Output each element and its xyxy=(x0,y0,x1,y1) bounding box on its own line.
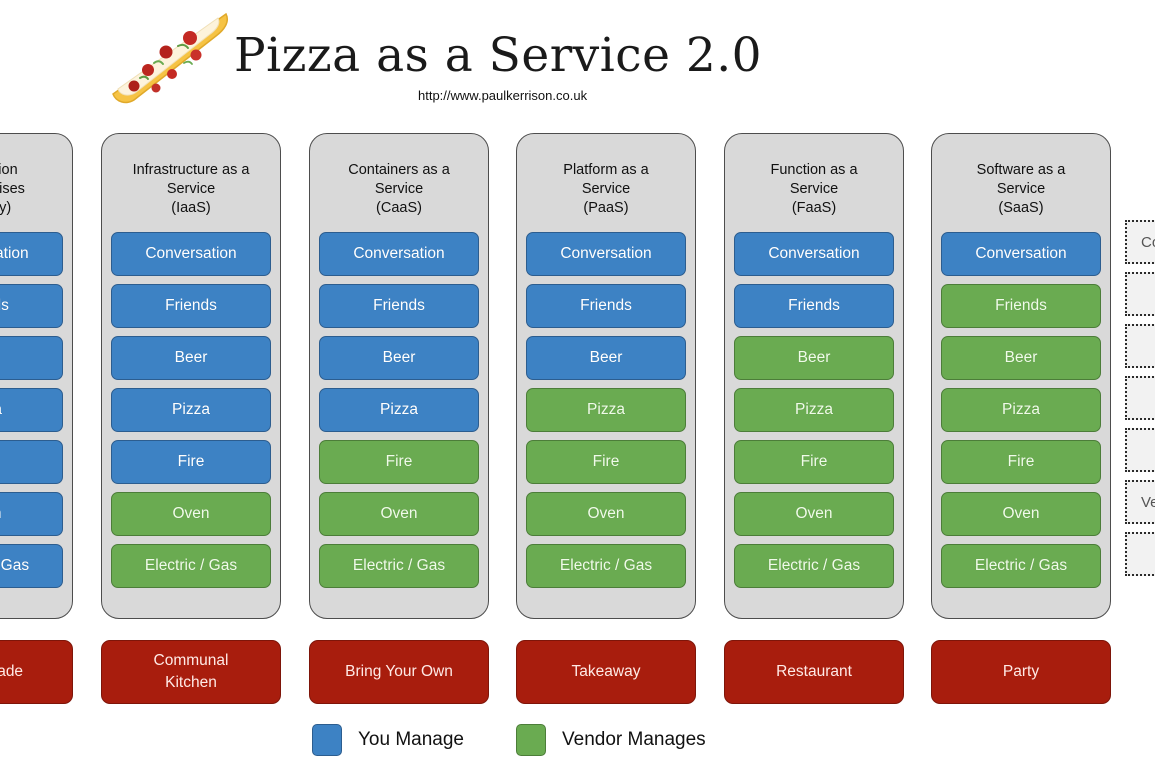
column-bottom-label[interactable]: Takeaway xyxy=(516,640,696,704)
legend-swatch-blue-icon xyxy=(312,724,342,756)
cell-oven[interactable]: Oven xyxy=(734,492,894,536)
cell-beer[interactable]: Beer xyxy=(0,336,63,380)
cell-oven[interactable]: Oven xyxy=(111,492,271,536)
column-card: Infrastructure as a Service (IaaS) Conve… xyxy=(101,133,281,619)
column-bottom-label[interactable]: Homemade xyxy=(0,640,73,704)
column-bottom-label[interactable]: Party xyxy=(931,640,1111,704)
column-faas: Function as a Service (FaaS) Conversatio… xyxy=(724,133,904,619)
column-iaas: Infrastructure as a Service (IaaS) Conve… xyxy=(101,133,281,619)
cell-pizza[interactable]: Pizza xyxy=(0,388,63,432)
column-title: Installation On Premises (Legacy) xyxy=(0,142,63,232)
cell-beer[interactable]: Beer xyxy=(111,336,271,380)
cell-friends[interactable]: Friends xyxy=(111,284,271,328)
template-row[interactable] xyxy=(1125,272,1155,316)
page-title: Pizza as a Service 2.0 xyxy=(234,32,762,79)
column-on-premises: Installation On Premises (Legacy) Conver… xyxy=(0,133,73,619)
cell-electric-gas[interactable]: Electric / Gas xyxy=(0,544,63,588)
cell-beer[interactable]: Beer xyxy=(734,336,894,380)
template-row[interactable]: Conversation xyxy=(1125,220,1155,264)
cell-friends[interactable]: Friends xyxy=(526,284,686,328)
column-paas: Platform as a Service (PaaS) Conversatio… xyxy=(516,133,696,619)
column-saas: Software as a Service (SaaS) Conversatio… xyxy=(931,133,1111,619)
cell-conversation[interactable]: Conversation xyxy=(0,232,63,276)
cell-pizza[interactable]: Pizza xyxy=(734,388,894,432)
column-caas: Containers as a Service (CaaS) Conversat… xyxy=(309,133,489,619)
cell-oven[interactable]: Oven xyxy=(0,492,63,536)
cell-fire[interactable]: Fire xyxy=(734,440,894,484)
column-bottom-label[interactable]: Communal Kitchen xyxy=(101,640,281,704)
cell-friends[interactable]: Friends xyxy=(0,284,63,328)
column-card: Installation On Premises (Legacy) Conver… xyxy=(0,133,73,619)
column-card: Platform as a Service (PaaS) Conversatio… xyxy=(516,133,696,619)
cell-fire[interactable]: Fire xyxy=(319,440,479,484)
column-card: Containers as a Service (CaaS) Conversat… xyxy=(309,133,489,619)
column-title: Function as a Service (FaaS) xyxy=(734,142,894,232)
column-title: Infrastructure as a Service (IaaS) xyxy=(111,142,271,232)
cell-oven[interactable]: Oven xyxy=(526,492,686,536)
cell-electric-gas[interactable]: Electric / Gas xyxy=(941,544,1101,588)
cell-electric-gas[interactable]: Electric / Gas xyxy=(734,544,894,588)
legend-item-you-manage: You Manage xyxy=(312,718,464,762)
cell-electric-gas[interactable]: Electric / Gas xyxy=(526,544,686,588)
column-title: Software as a Service (SaaS) xyxy=(941,142,1101,232)
cell-beer[interactable]: Beer xyxy=(319,336,479,380)
column-card: Function as a Service (FaaS) Conversatio… xyxy=(724,133,904,619)
legend-item-vendor-manages: Vendor Manages xyxy=(516,718,706,762)
template-row[interactable] xyxy=(1125,428,1155,472)
cell-pizza[interactable]: Pizza xyxy=(941,388,1101,432)
cell-fire[interactable]: Fire xyxy=(0,440,63,484)
pizza-slice-icon xyxy=(104,8,234,108)
legend-swatch-green-icon xyxy=(516,724,546,756)
cell-beer[interactable]: Beer xyxy=(526,336,686,380)
cell-electric-gas[interactable]: Electric / Gas xyxy=(319,544,479,588)
cell-pizza[interactable]: Pizza xyxy=(526,388,686,432)
cell-oven[interactable]: Oven xyxy=(941,492,1101,536)
cell-friends[interactable]: Friends xyxy=(319,284,479,328)
column-bottom-label[interactable]: Bring Your Own xyxy=(309,640,489,704)
legend-label: You Manage xyxy=(358,729,464,751)
source-url: http://www.paulkerrison.co.uk xyxy=(418,88,587,103)
cell-pizza[interactable]: Pizza xyxy=(111,388,271,432)
legend: You Manage Vendor Manages xyxy=(0,718,1155,764)
cell-fire[interactable]: Fire xyxy=(526,440,686,484)
template-row[interactable] xyxy=(1125,532,1155,576)
page-header: Pizza as a Service 2.0 http://www.paulke… xyxy=(0,0,1155,120)
cell-conversation[interactable]: Conversation xyxy=(526,232,686,276)
cell-conversation[interactable]: Conversation xyxy=(941,232,1101,276)
logo xyxy=(104,8,234,108)
cell-conversation[interactable]: Conversation xyxy=(734,232,894,276)
service-model-board: Installation On Premises (Legacy) Conver… xyxy=(0,120,1155,770)
cell-friends[interactable]: Friends xyxy=(734,284,894,328)
cell-electric-gas[interactable]: Electric / Gas xyxy=(111,544,271,588)
cell-pizza[interactable]: Pizza xyxy=(319,388,479,432)
cell-fire[interactable]: Fire xyxy=(941,440,1101,484)
column-title: Platform as a Service (PaaS) xyxy=(526,142,686,232)
template-column: Conversation Vendor xyxy=(1125,220,1155,584)
cell-oven[interactable]: Oven xyxy=(319,492,479,536)
cell-conversation[interactable]: Conversation xyxy=(111,232,271,276)
template-row[interactable]: Vendor xyxy=(1125,480,1155,524)
cell-conversation[interactable]: Conversation xyxy=(319,232,479,276)
template-row[interactable] xyxy=(1125,376,1155,420)
column-bottom-label[interactable]: Restaurant xyxy=(724,640,904,704)
cell-friends[interactable]: Friends xyxy=(941,284,1101,328)
legend-label: Vendor Manages xyxy=(562,729,706,751)
cell-beer[interactable]: Beer xyxy=(941,336,1101,380)
template-row[interactable] xyxy=(1125,324,1155,368)
column-card: Software as a Service (SaaS) Conversatio… xyxy=(931,133,1111,619)
column-title: Containers as a Service (CaaS) xyxy=(319,142,479,232)
cell-fire[interactable]: Fire xyxy=(111,440,271,484)
